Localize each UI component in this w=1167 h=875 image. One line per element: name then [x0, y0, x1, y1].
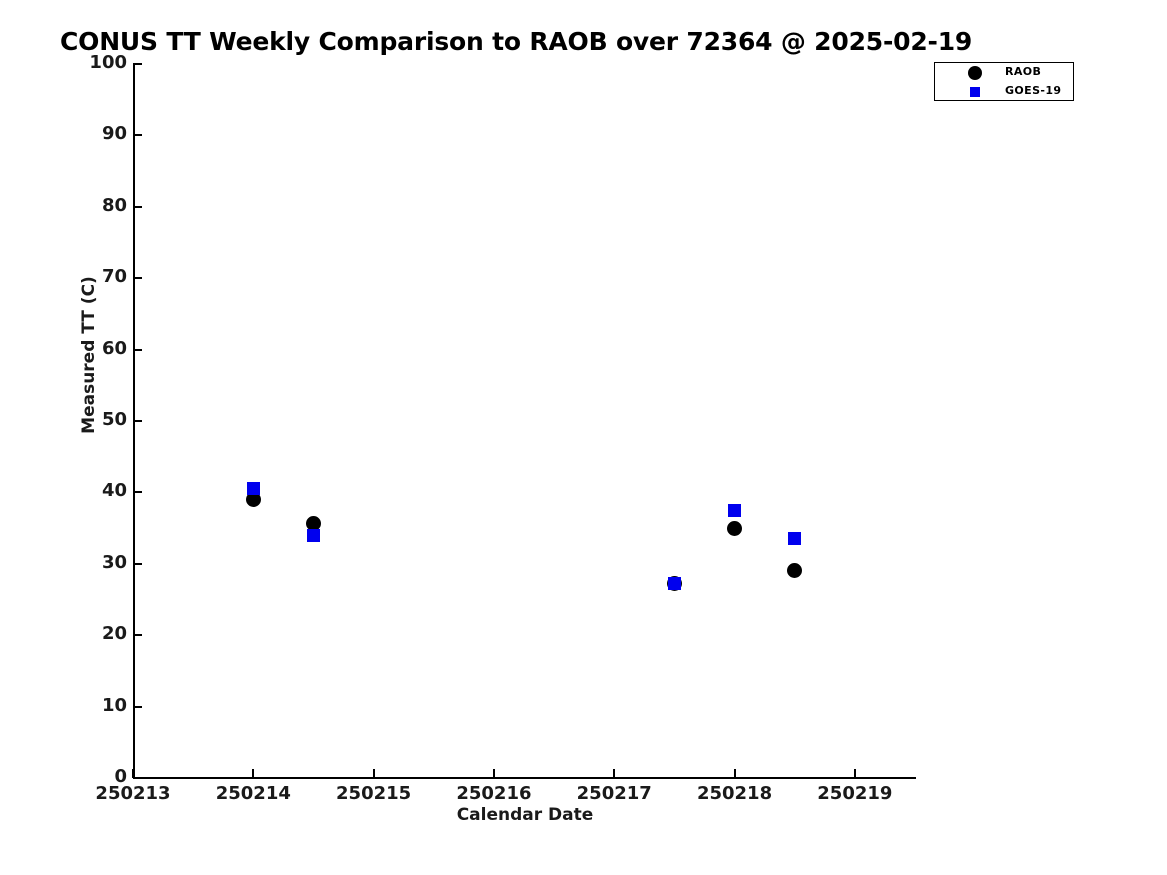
chart-figure: CONUS TT Weekly Comparison to RAOB over …: [0, 0, 1167, 875]
data-point-goes-19: [247, 482, 260, 495]
x-tick-label: 250216: [434, 783, 554, 804]
legend-swatch: [968, 66, 982, 80]
legend-swatch: [970, 87, 980, 97]
plot-area: [133, 64, 915, 778]
data-point-goes-19: [788, 532, 801, 545]
x-tick-label: 250217: [554, 783, 674, 804]
x-tick-label: 250218: [675, 783, 795, 804]
y-axis-label: Measured TT (C): [79, 255, 99, 455]
y-tick-label: 90: [67, 123, 127, 144]
legend-item-goes-19: GOES-19: [935, 82, 1073, 101]
x-tick-label: 250213: [73, 783, 193, 804]
data-point-raob: [727, 521, 742, 536]
data-point-goes-19: [307, 529, 320, 542]
y-tick-label: 40: [67, 480, 127, 501]
legend-item-raob: RAOB: [935, 63, 1073, 82]
legend: RAOBGOES-19: [934, 62, 1074, 101]
x-axis-label: Calendar Date: [0, 805, 1050, 825]
x-tick-label: 250214: [193, 783, 313, 804]
data-point-goes-19: [668, 577, 681, 590]
data-point-raob: [787, 563, 802, 578]
y-tick-label: 30: [67, 552, 127, 573]
legend-label: GOES-19: [1005, 84, 1062, 97]
y-tick-label: 10: [67, 695, 127, 716]
page-title: CONUS TT Weekly Comparison to RAOB over …: [60, 27, 972, 56]
y-tick-label: 20: [67, 623, 127, 644]
square-marker-icon: [965, 82, 985, 101]
legend-label: RAOB: [1005, 65, 1041, 78]
x-tick-label: 250219: [795, 783, 915, 804]
x-tick-label: 250215: [314, 783, 434, 804]
circle-marker-icon: [965, 63, 985, 82]
y-tick-label: 80: [67, 195, 127, 216]
data-point-goes-19: [728, 504, 741, 517]
y-tick-label: 100: [67, 52, 127, 73]
